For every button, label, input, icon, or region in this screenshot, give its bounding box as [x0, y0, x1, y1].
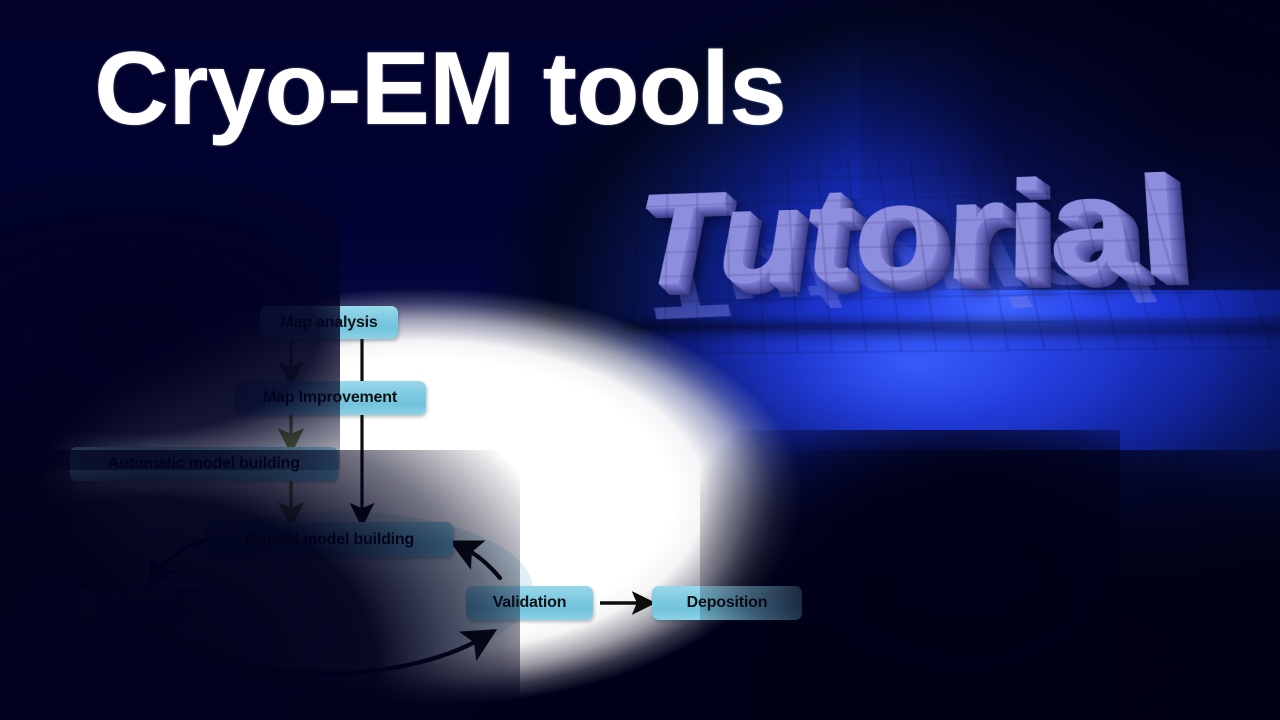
node-map-analysis[interactable]: Map analysis	[260, 306, 398, 339]
node-map-improvement[interactable]: Map Improvement	[234, 381, 426, 415]
slide-canvas: Tutorial Tutorial Cryo-EM tools	[0, 0, 1280, 720]
node-refinement[interactable]: Refinement	[78, 588, 206, 621]
node-validation[interactable]: Validation	[466, 586, 593, 620]
cryoem-workflow-diagram: Map analysis Map Improvement Automatic m…	[0, 0, 1280, 720]
node-manual-model-building[interactable]: Manual model building	[206, 522, 453, 557]
node-automatic-model-building[interactable]: Automatic model building	[70, 447, 338, 481]
node-deposition[interactable]: Deposition	[652, 586, 802, 620]
